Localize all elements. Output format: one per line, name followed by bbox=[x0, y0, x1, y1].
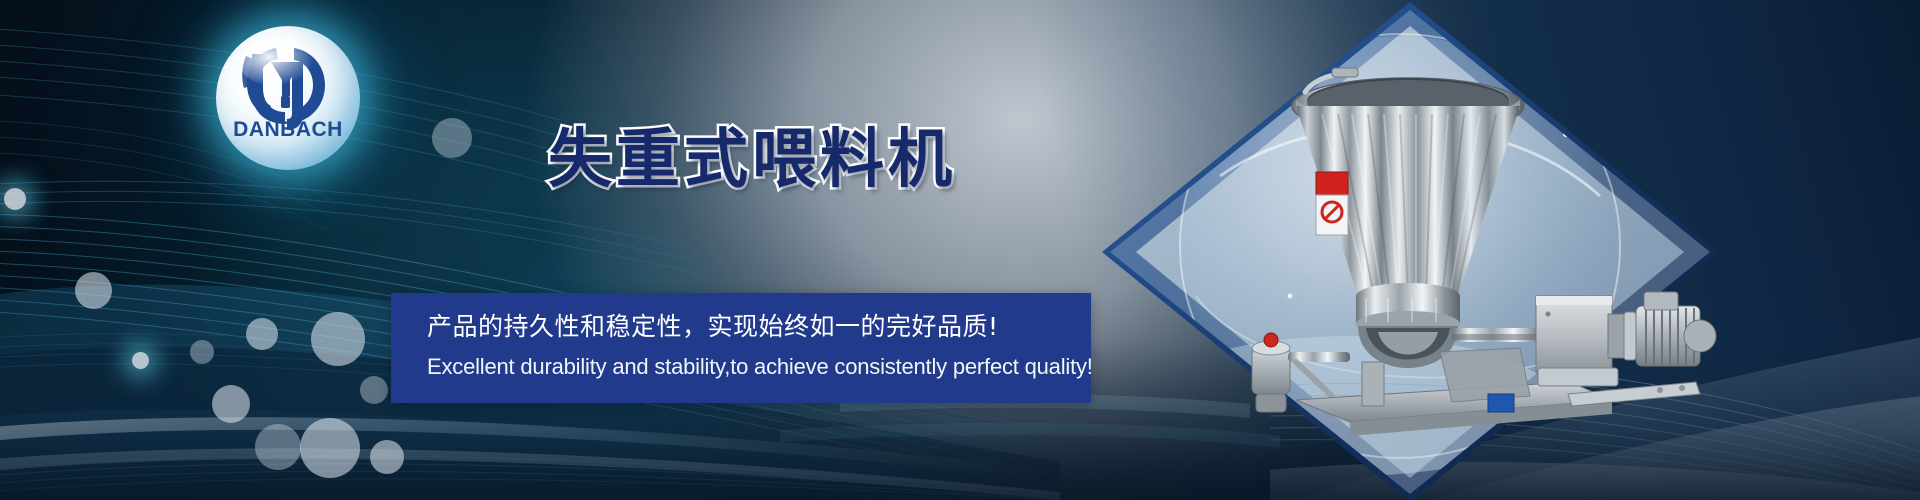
bokeh-circle bbox=[246, 318, 278, 350]
page-title: 失重式喂料机 bbox=[548, 128, 956, 192]
danbach-monogram-icon bbox=[216, 26, 360, 170]
bokeh-circle bbox=[432, 118, 472, 158]
bokeh-circle bbox=[311, 312, 365, 366]
bokeh-circle bbox=[300, 418, 360, 478]
bokeh-circle bbox=[132, 352, 149, 369]
caption-panel: 产品的持久性和稳定性，实现始终如一的完好品质! Excellent durabi… bbox=[391, 293, 1091, 403]
bokeh-circle bbox=[212, 385, 250, 423]
brand-wordmark: DANBACH bbox=[216, 118, 360, 142]
bokeh-circle bbox=[190, 340, 214, 364]
bokeh-circle bbox=[75, 272, 112, 309]
bokeh-circle bbox=[4, 188, 26, 210]
bokeh-circle bbox=[255, 424, 301, 470]
caption-chinese-text: 产品的持久性和稳定性，实现始终如一的完好品质! bbox=[427, 307, 999, 343]
brand-logo-sphere[interactable]: DANBACH bbox=[216, 26, 360, 170]
bokeh-circle bbox=[360, 376, 388, 404]
bokeh-circle bbox=[370, 440, 404, 474]
loss-in-weight-feeder-image bbox=[1100, 0, 1720, 500]
promo-banner: DANBACH 失重式喂料机 产品的持久性和稳定性，实现始终如一的完好品质! E… bbox=[0, 0, 1920, 500]
caption-english-text: Excellent durability and stability,to ac… bbox=[427, 354, 1093, 380]
